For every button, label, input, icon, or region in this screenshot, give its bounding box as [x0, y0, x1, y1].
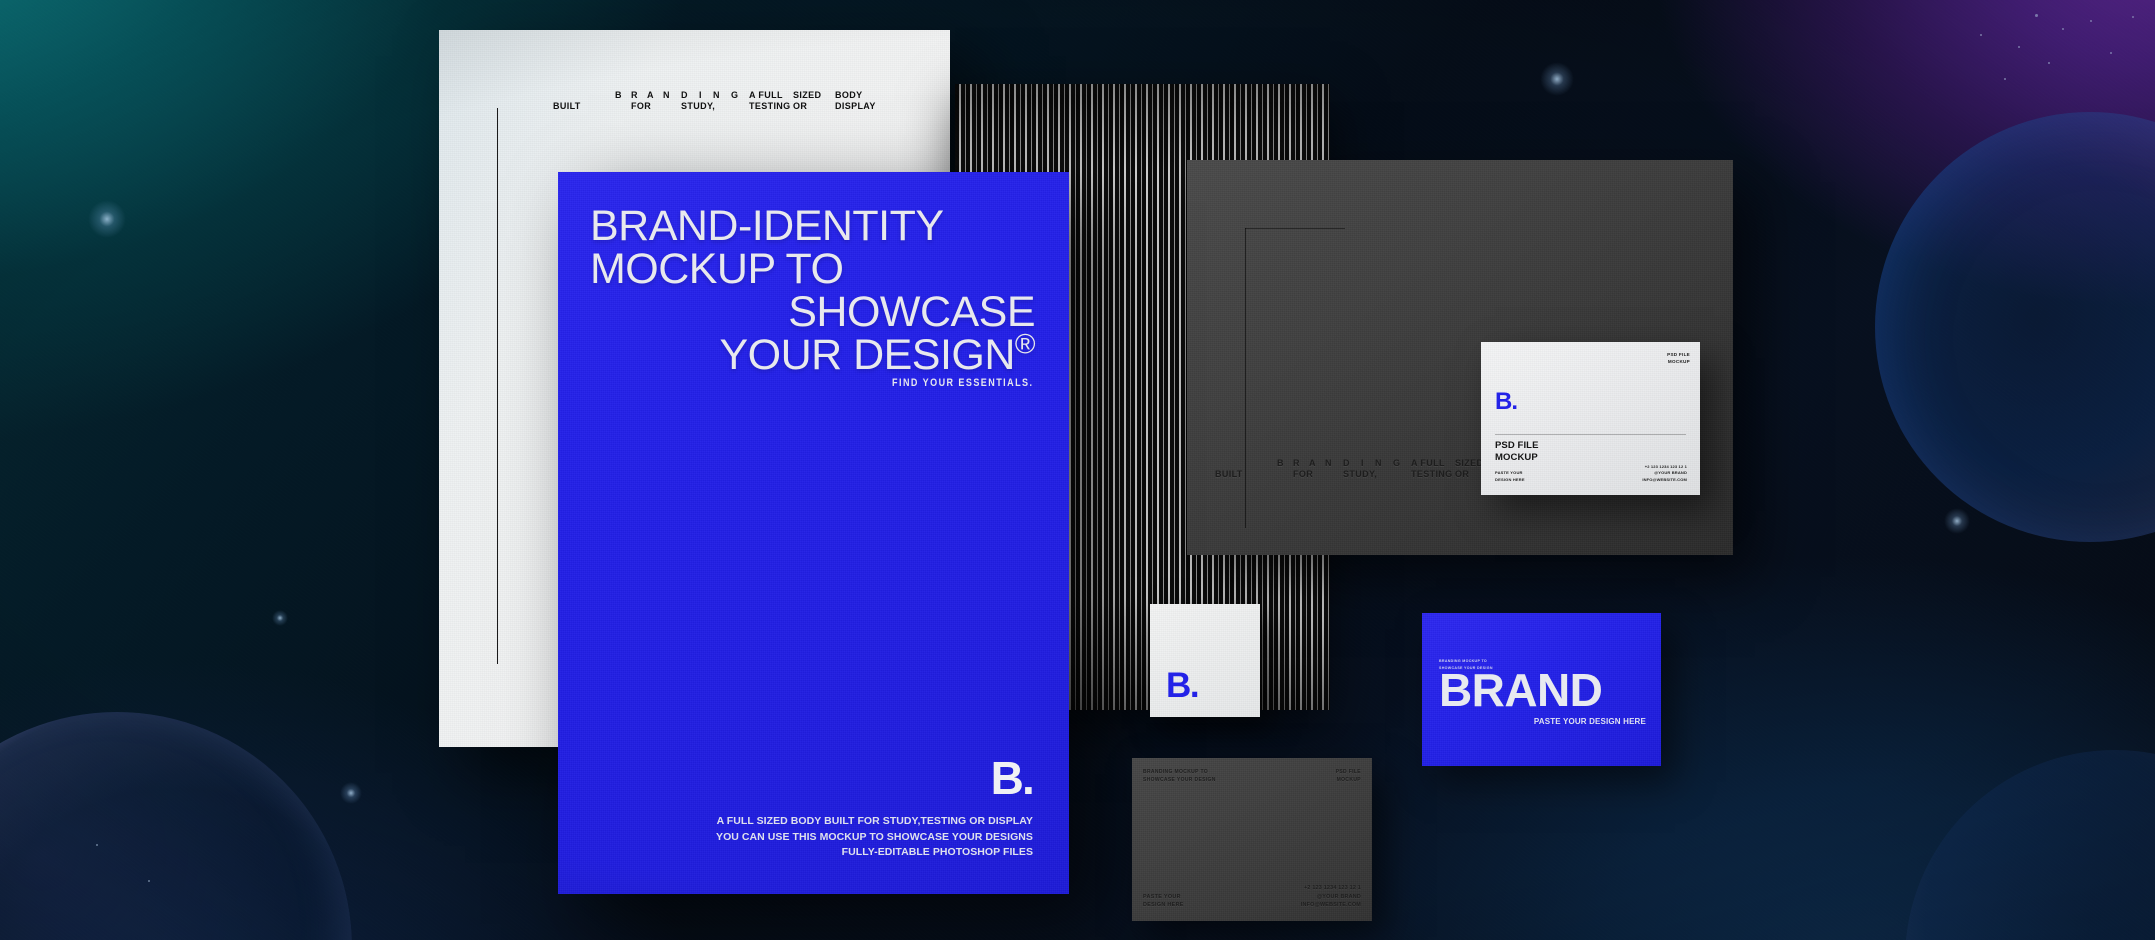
- mockup-scene: BUILT B RFOR A N DSTUDY, I N G A FULLTES…: [0, 0, 2155, 940]
- vignette-overlay: [0, 0, 2155, 940]
